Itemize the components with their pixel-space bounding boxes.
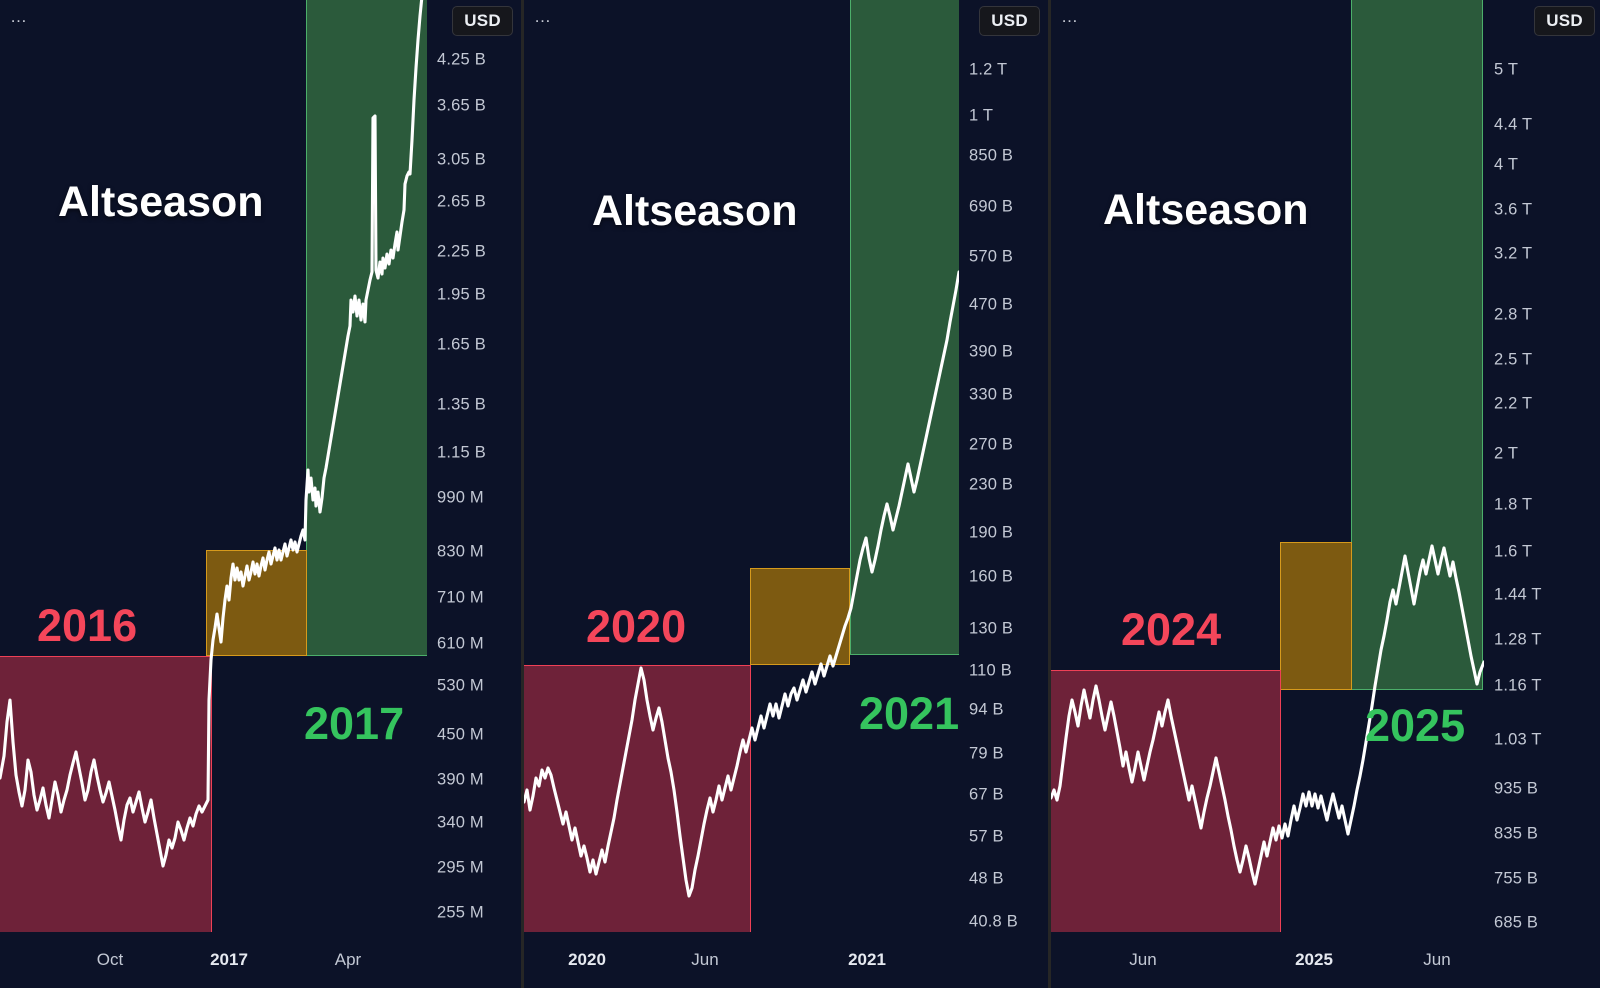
price-tick: 340 M <box>437 814 484 833</box>
panel-menu-icon-3[interactable]: … <box>1061 12 1080 22</box>
price-tick: 835 B <box>1494 825 1538 844</box>
price-tick: 2.65 B <box>437 193 486 212</box>
price-tick: 710 M <box>437 589 484 608</box>
price-tick: 4.4 T <box>1494 116 1532 135</box>
price-tick-list-1: 4.25 B 3.65 B 3.05 B 2.65 B 2.25 B 1.95 … <box>427 44 521 988</box>
price-axis-1[interactable]: USD 4.25 B 3.65 B 3.05 B 2.65 B 2.25 B 1… <box>427 0 521 988</box>
price-tick: 57 B <box>969 828 1004 847</box>
price-tick: 40.8 B <box>969 913 1018 932</box>
altseason-label-3: Altseason <box>1103 186 1309 235</box>
highlight-box-gold-1 <box>206 550 307 656</box>
plot-area-2[interactable]: Altseason 2020 2021 <box>524 0 959 932</box>
price-axis-3[interactable]: USD 5 T 4.4 T 4 T 3.6 T 3.2 T 2.8 T 2.5 … <box>1484 0 1600 988</box>
price-tick: 1.8 T <box>1494 496 1532 515</box>
year-end-label-2: 2021 <box>859 688 959 740</box>
price-tick: 830 M <box>437 543 484 562</box>
year-end-label-3: 2025 <box>1365 700 1465 752</box>
price-tick: 2.25 B <box>437 243 486 262</box>
panel-menu-icon-1[interactable]: … <box>10 12 29 22</box>
time-axis-1[interactable]: Oct 2017 Apr <box>0 932 427 988</box>
year-start-label-1: 2016 <box>37 600 137 652</box>
time-axis-3[interactable]: Jun 2025 Jun <box>1051 932 1484 988</box>
currency-badge-3[interactable]: USD <box>1534 6 1595 36</box>
price-tick-list-3: 5 T 4.4 T 4 T 3.6 T 3.2 T 2.8 T 2.5 T 2.… <box>1484 44 1600 988</box>
price-tick: 4.25 B <box>437 51 486 70</box>
price-tick: 190 B <box>969 524 1013 543</box>
time-tick: Jun <box>1423 950 1450 970</box>
altseason-comparison-board: Altseason 2016 2017 … Oct 2017 Apr USD 4… <box>0 0 1600 988</box>
time-tick: 2017 <box>210 950 248 970</box>
highlight-box-gold-2 <box>750 568 850 665</box>
altseason-label-1: Altseason <box>58 178 264 227</box>
price-tick: 470 B <box>969 296 1013 315</box>
price-tick: 79 B <box>969 745 1004 764</box>
chart-panel-2020-2021: Altseason 2020 2021 … 2020 Jun 2021 USD … <box>524 0 1051 988</box>
price-tick: 110 B <box>969 662 1012 681</box>
time-tick: Apr <box>335 950 361 970</box>
plot-area-1[interactable]: Altseason 2016 2017 <box>0 0 427 932</box>
price-tick: 160 B <box>969 568 1013 587</box>
price-tick: 1.15 B <box>437 444 486 463</box>
highlight-box-green-1 <box>306 0 427 656</box>
price-tick: 1.2 T <box>969 61 1007 80</box>
price-tick: 570 B <box>969 248 1013 267</box>
price-tick: 390 M <box>437 771 484 790</box>
price-tick: 530 M <box>437 677 484 696</box>
price-tick: 850 B <box>969 147 1013 166</box>
highlight-box-green-2 <box>850 0 959 655</box>
highlight-box-gold-3 <box>1280 542 1352 690</box>
price-tick: 1.28 T <box>1494 631 1542 650</box>
price-tick: 755 B <box>1494 870 1538 889</box>
year-start-label-2: 2020 <box>586 601 686 653</box>
time-tick: Jun <box>1129 950 1156 970</box>
price-tick: 230 B <box>969 476 1013 495</box>
price-tick: 4 T <box>1494 156 1518 175</box>
highlight-box-red-1 <box>0 656 212 932</box>
price-tick: 1.6 T <box>1494 543 1532 562</box>
price-tick: 1.16 T <box>1494 677 1542 696</box>
price-axis-2[interactable]: USD 1.2 T 1 T 850 B 690 B 570 B 470 B 39… <box>959 0 1048 988</box>
plot-area-3[interactable]: Altseason 2024 2025 <box>1051 0 1484 932</box>
time-tick: 2021 <box>848 950 886 970</box>
altseason-label-2: Altseason <box>592 187 798 236</box>
panel-menu-icon-2[interactable]: … <box>534 12 553 22</box>
highlight-box-green-3 <box>1351 0 1483 690</box>
price-tick: 3.05 B <box>437 151 486 170</box>
currency-badge-2[interactable]: USD <box>979 6 1040 36</box>
year-start-label-3: 2024 <box>1121 604 1221 656</box>
price-tick: 690 B <box>969 198 1013 217</box>
time-tick: 2025 <box>1295 950 1333 970</box>
price-tick: 3.2 T <box>1494 245 1532 264</box>
price-tick: 1.95 B <box>437 286 486 305</box>
price-tick: 94 B <box>969 701 1004 720</box>
time-tick: Oct <box>97 950 123 970</box>
time-axis-2[interactable]: 2020 Jun 2021 <box>524 932 959 988</box>
price-tick: 255 M <box>437 904 484 923</box>
price-tick: 295 M <box>437 859 484 878</box>
price-tick: 130 B <box>969 620 1013 639</box>
price-tick: 2.8 T <box>1494 306 1532 325</box>
price-tick: 685 B <box>1494 914 1538 933</box>
price-tick: 1 T <box>969 107 993 126</box>
price-tick: 3.6 T <box>1494 201 1532 220</box>
price-tick: 67 B <box>969 786 1004 805</box>
price-tick: 48 B <box>969 870 1004 889</box>
price-tick: 1.44 T <box>1494 586 1542 605</box>
price-tick: 270 B <box>969 436 1013 455</box>
price-tick: 2.2 T <box>1494 395 1532 414</box>
price-tick: 610 M <box>437 635 484 654</box>
price-tick: 450 M <box>437 726 484 745</box>
price-tick: 2 T <box>1494 445 1518 464</box>
time-tick: Jun <box>691 950 718 970</box>
time-tick: 2020 <box>568 950 606 970</box>
price-tick: 5 T <box>1494 61 1518 80</box>
year-end-label-1: 2017 <box>304 698 404 750</box>
price-tick: 330 B <box>969 386 1013 405</box>
price-tick: 1.03 T <box>1494 731 1542 750</box>
price-tick-list-2: 1.2 T 1 T 850 B 690 B 570 B 470 B 390 B … <box>959 44 1048 988</box>
price-tick: 990 M <box>437 489 484 508</box>
highlight-box-red-3 <box>1051 670 1281 932</box>
chart-panel-2024-2025: Altseason 2024 2025 … Jun 2025 Jun USD 5… <box>1051 0 1600 988</box>
chart-panel-2016-2017: Altseason 2016 2017 … Oct 2017 Apr USD 4… <box>0 0 524 988</box>
price-tick: 2.5 T <box>1494 351 1532 370</box>
highlight-box-red-2 <box>524 665 751 932</box>
price-tick: 1.35 B <box>437 396 486 415</box>
price-tick: 935 B <box>1494 780 1538 799</box>
price-tick: 1.65 B <box>437 336 486 355</box>
currency-badge-1[interactable]: USD <box>452 6 513 36</box>
price-tick: 390 B <box>969 343 1013 362</box>
price-tick: 3.65 B <box>437 97 486 116</box>
